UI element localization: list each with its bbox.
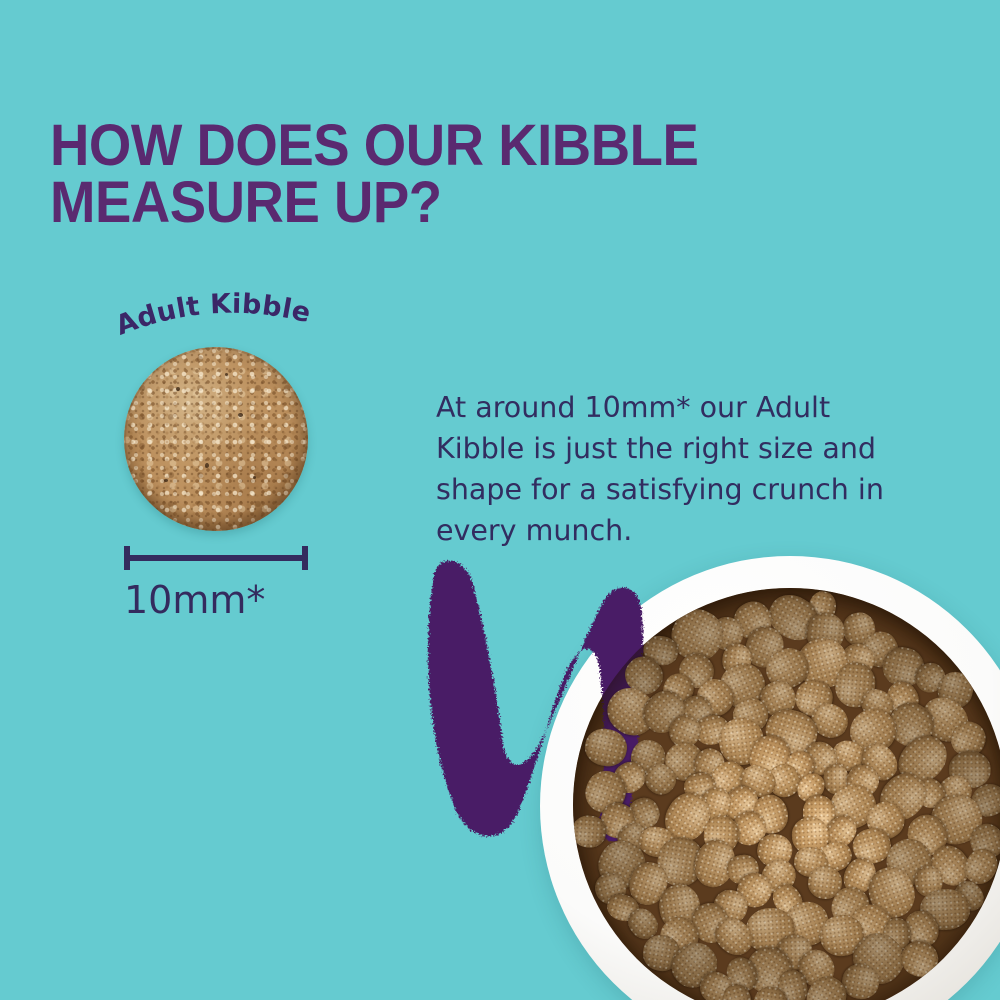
- adult-kibble-label: Adult Kibble: [108, 285, 338, 345]
- page-title: HOW DOES OUR KIBBLE MEASURE UP?: [50, 117, 802, 231]
- kibble-rim: [124, 347, 308, 531]
- kibble-disc-icon: [124, 347, 308, 531]
- body-paragraph: At around 10mm* our Adult Kibble is just…: [436, 387, 906, 551]
- measure-bar-cap-right: [302, 546, 308, 570]
- measure-bar-line: [124, 555, 308, 561]
- measure-bar-icon: [124, 546, 308, 570]
- adult-kibble-label-text: Adult Kibble: [112, 289, 314, 342]
- infographic-canvas: HOW DOES OUR KIBBLE MEASURE UP? Adult Ki…: [0, 0, 1000, 1000]
- measurement-label: 10mm*: [124, 578, 384, 622]
